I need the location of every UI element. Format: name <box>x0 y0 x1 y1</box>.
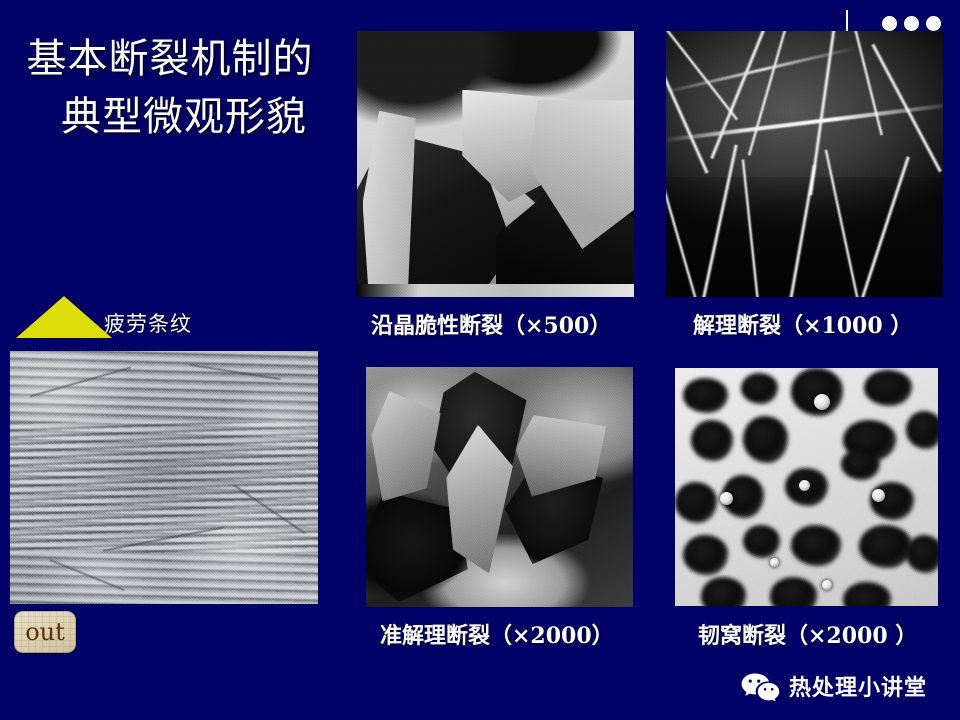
micrograph-grain-texture <box>357 31 634 297</box>
figure-caption-quasi-cleavage: 准解理断裂（×2000） <box>380 618 614 650</box>
figure-cleavage-fracture <box>666 31 943 297</box>
watermark: 热处理小讲堂 <box>740 670 927 702</box>
dot-icon <box>904 16 919 31</box>
page-title: 基本断裂机制的 典型微观形貌 <box>0 30 350 146</box>
micrograph-grain-texture <box>666 31 943 297</box>
figure-caption-intergranular: 沿晶脆性断裂（×500） <box>371 308 611 340</box>
figure-fatigue-striations <box>10 351 318 604</box>
page-title-line-1: 基本断裂机制的 <box>0 30 350 88</box>
page-title-line-2: 典型微观形貌 <box>0 88 350 146</box>
slide-canvas: 基本断裂机制的 典型微观形貌 疲劳条纹 沿晶脆性断裂（×500） <box>0 0 960 720</box>
micrograph-grain-texture <box>675 368 938 606</box>
out-button-label: out <box>25 620 65 644</box>
micrograph-grain-texture <box>366 367 633 607</box>
watermark-text: 热处理小讲堂 <box>789 670 927 702</box>
fatigue-striation-label: 疲劳条纹 <box>104 308 192 338</box>
figure-dimple-fracture <box>675 368 938 606</box>
figure-caption-cleavage: 解理断裂（×1000 ） <box>693 308 912 340</box>
micrograph-grain-texture <box>10 351 318 604</box>
figure-intergranular-brittle-fracture <box>357 31 634 297</box>
dot-icon <box>926 16 941 31</box>
dot-icon <box>882 16 897 31</box>
figure-caption-dimple: 韧窝断裂（×2000 ） <box>698 618 917 650</box>
figure-quasi-cleavage-fracture <box>366 367 633 607</box>
wechat-icon <box>740 671 780 701</box>
out-button[interactable]: out <box>14 611 76 653</box>
yellow-triangle-bullet-icon <box>16 296 112 338</box>
dot-blank <box>860 16 875 31</box>
